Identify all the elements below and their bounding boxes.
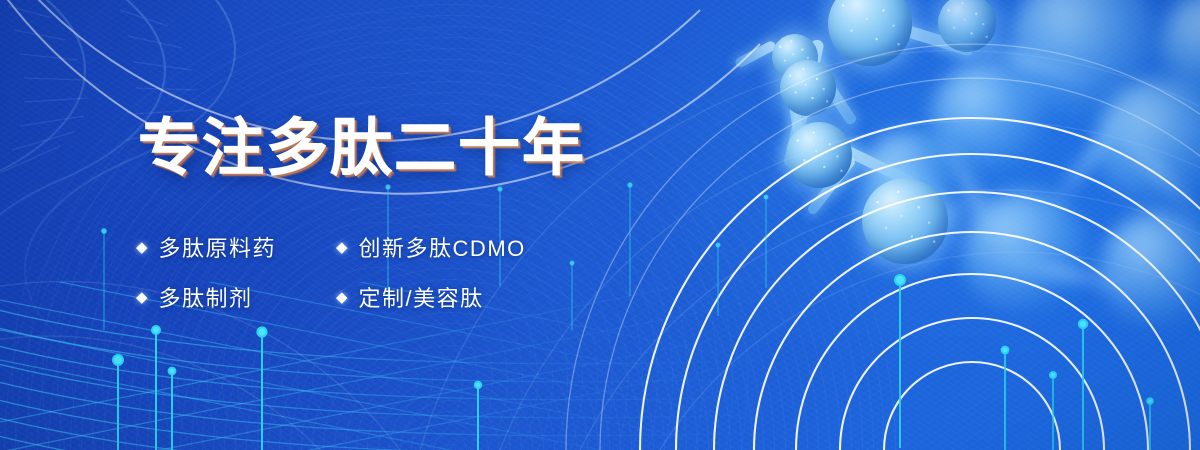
- page-title: 专注多肽二十年: [138, 118, 586, 180]
- diamond-bullet-icon: ◆: [136, 290, 148, 305]
- feature-item-peptide-formulation[interactable]: ◆ 多肽制剂: [136, 281, 336, 313]
- feature-item-peptide-api[interactable]: ◆ 多肽原料药: [136, 231, 336, 263]
- feature-list: ◆ 多肽原料药 ◆ 创新多肽CDMO ◆ 多肽制剂 ◆ 定制/美容肽: [136, 222, 606, 322]
- diamond-bullet-icon: ◆: [136, 240, 148, 255]
- feature-label: 定制/美容肽: [359, 281, 484, 313]
- banner-content: 专注多肽二十年 ◆ 多肽原料药 ◆ 创新多肽CDMO ◆ 多肽制剂 ◆ 定制/美…: [0, 0, 1200, 450]
- feature-label: 多肽制剂: [159, 281, 253, 313]
- feature-label: 多肽原料药: [159, 231, 277, 263]
- diamond-bullet-icon: ◆: [336, 240, 348, 255]
- promo-banner: 专注多肽二十年 ◆ 多肽原料药 ◆ 创新多肽CDMO ◆ 多肽制剂 ◆ 定制/美…: [0, 0, 1200, 450]
- diamond-bullet-icon: ◆: [336, 290, 348, 305]
- feature-item-custom-cosmetic-peptide[interactable]: ◆ 定制/美容肽: [336, 281, 586, 313]
- feature-label: 创新多肽CDMO: [359, 231, 526, 263]
- feature-item-innovative-cdmo[interactable]: ◆ 创新多肽CDMO: [336, 231, 586, 263]
